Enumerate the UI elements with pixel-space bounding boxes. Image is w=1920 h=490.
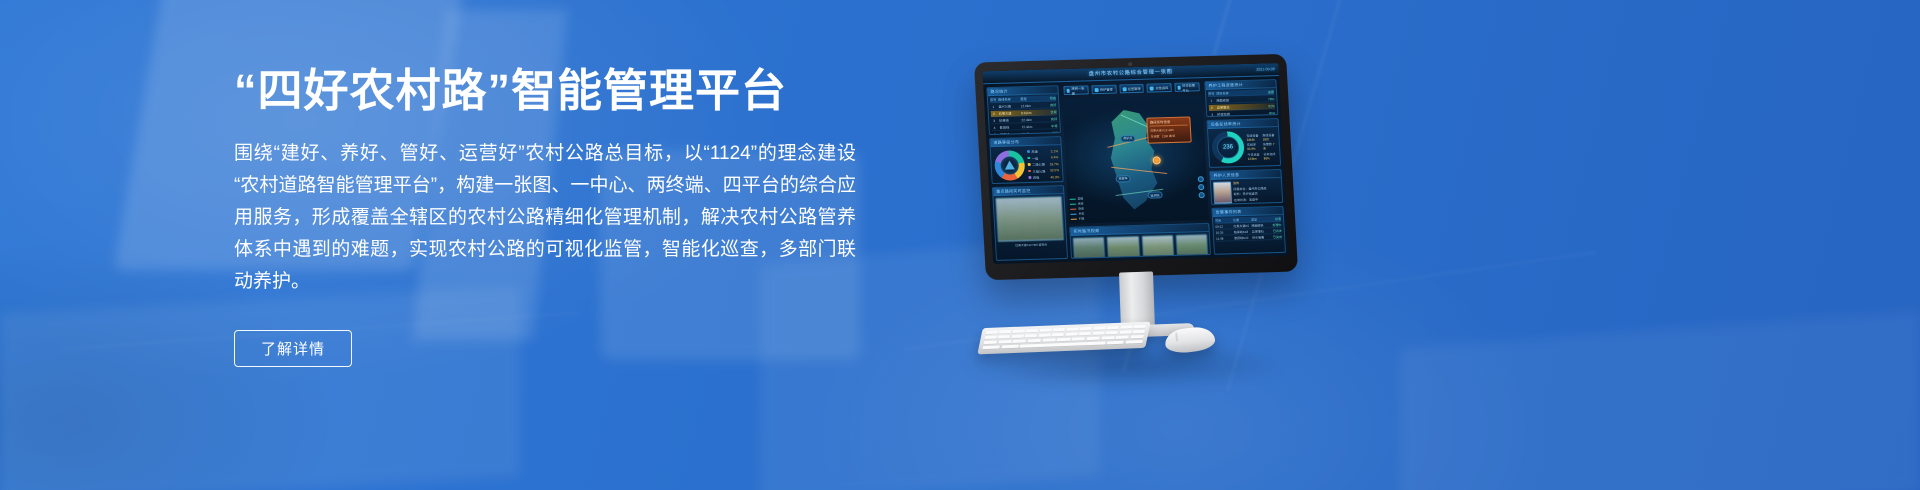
callout-line: 红果大道 K12+300 bbox=[1150, 127, 1188, 132]
key bbox=[1106, 341, 1124, 345]
key bbox=[1053, 328, 1066, 332]
legend-swatch bbox=[1070, 198, 1076, 199]
key bbox=[1013, 339, 1027, 343]
key bbox=[1120, 325, 1133, 329]
video-thumbnail[interactable] bbox=[1141, 235, 1173, 258]
key bbox=[1080, 327, 1093, 331]
key bbox=[1065, 332, 1078, 336]
legend-swatch bbox=[1028, 176, 1031, 179]
video-thumbnail[interactable] bbox=[1107, 236, 1139, 259]
column-header: 时间 bbox=[1215, 218, 1231, 222]
road-stats-table: 序号 路线名称 里程 状态 1 盘兴公路 12.6km 良好 bbox=[988, 94, 1060, 135]
dashboard-title-text: 盘州市农村公路综合管理一张图 bbox=[1089, 69, 1173, 77]
key bbox=[1025, 334, 1038, 338]
key bbox=[1001, 345, 1019, 349]
column-header: 位置 bbox=[1233, 217, 1249, 221]
dashboard-center-column: 路网一张图 养护管理 巡查管理 bbox=[1061, 81, 1211, 259]
table-row[interactable]: 5 保田线 30.8km 良好 bbox=[992, 130, 1058, 135]
webcam-icon bbox=[1128, 62, 1132, 66]
legend-item: 省道 bbox=[1070, 201, 1084, 205]
column-header: 状态 bbox=[1269, 216, 1281, 220]
person-name: 张伟 bbox=[1233, 180, 1279, 185]
donut-chart bbox=[994, 150, 1026, 181]
key bbox=[1093, 326, 1106, 330]
ring-chart: 236 bbox=[1211, 131, 1245, 164]
dashboard-body: 路况统计 序号 路线名称 里程 状态 1 盘兴公路 bbox=[983, 76, 1289, 264]
key bbox=[1038, 333, 1051, 337]
column-header: 进度 bbox=[1251, 89, 1274, 95]
key bbox=[998, 340, 1012, 344]
legend-swatch bbox=[1070, 203, 1076, 204]
dashboard-left-column: 路况统计 序号 路线名称 里程 状态 1 盘兴公路 bbox=[986, 85, 1068, 261]
key bbox=[1026, 329, 1039, 333]
panel-device-online-ring: 设备在线率统计 236 在线设备 236台 离线设备 18台 在线率 92.9%… bbox=[1206, 118, 1281, 168]
person-details: 张伟 所属单位：盘州市公路局 职务：养护巡查员 在岗状态：巡查中 bbox=[1233, 180, 1280, 203]
ring-chart-area: 236 在线设备 236台 离线设备 18台 在线率 92.9% 告警数 7条 … bbox=[1208, 127, 1280, 167]
donut-legend: 高速 2.1% 一级 6.4% bbox=[1027, 148, 1060, 180]
map-callout: 路段实时信息 红果大道 K12+300 车流量：1280 辆/日 bbox=[1147, 117, 1192, 144]
key bbox=[1115, 335, 1129, 339]
key bbox=[999, 330, 1012, 334]
panel-camera-monitor: 重点路段实时监控 红果大道K12+300 监控点 bbox=[992, 185, 1068, 261]
person-row: 所属单位：盘州市公路局 bbox=[1233, 185, 1279, 190]
learn-more-button[interactable]: 了解详情 bbox=[234, 330, 352, 367]
kpi-item: 离线设备 18台 bbox=[1262, 133, 1275, 141]
key bbox=[998, 335, 1011, 339]
column-header: 状态 bbox=[1042, 95, 1056, 100]
nav-button-map[interactable]: 路网一张图 bbox=[1063, 85, 1088, 95]
key bbox=[1107, 326, 1120, 330]
dashboard-clock: 2021-09-08 bbox=[1256, 63, 1275, 76]
person-row: 在岗状态：巡查中 bbox=[1234, 196, 1280, 201]
legend-item: 县道 bbox=[1070, 206, 1084, 210]
legend-swatch bbox=[1028, 163, 1031, 166]
key bbox=[1106, 331, 1119, 335]
hero-content: “四好农村路”智能管理平台 围绕“建好、养好、管好、运营好”农村公路总目标，以“… bbox=[234, 62, 874, 367]
key bbox=[1092, 331, 1105, 335]
key bbox=[1027, 339, 1041, 343]
key bbox=[1012, 329, 1025, 333]
zoom-in-icon[interactable] bbox=[1198, 184, 1204, 190]
legend-item: 二级公路 18.7% bbox=[1028, 161, 1059, 167]
key bbox=[1052, 333, 1065, 337]
map-icon bbox=[1067, 88, 1071, 92]
computer-illustration: 盘州市农村公路综合管理一张图 2021-09-08 路况统计 序号 路线名称 bbox=[960, 40, 1580, 400]
key bbox=[1066, 327, 1079, 331]
column-header: 路线名称 bbox=[998, 96, 1019, 102]
panel-road-stats: 路况统计 序号 路线名称 里程 状态 1 盘兴公路 bbox=[986, 85, 1061, 135]
route-icon bbox=[1122, 87, 1126, 91]
legend-item: 三级公路 32.5% bbox=[1028, 168, 1059, 174]
key bbox=[984, 336, 997, 340]
project-progress-table: 序号 项目名称 进度 1 路面修复 78% 2 bbox=[1206, 88, 1278, 117]
legend-swatch bbox=[1027, 150, 1030, 153]
panel-person-info: 养护人员信息 张伟 所属单位：盘州市公路局 职务：养护巡查员 在岗状态：巡查中 bbox=[1209, 169, 1283, 205]
kpi-item: 告警数 7条 bbox=[1263, 142, 1276, 150]
column-header: 里程 bbox=[1020, 96, 1041, 102]
page-title: “四好农村路”智能管理平台 bbox=[234, 62, 874, 120]
avatar bbox=[1213, 181, 1232, 203]
key bbox=[1130, 335, 1144, 339]
callout-line: 车流量：1280 辆/日 bbox=[1151, 133, 1189, 138]
person-card: 张伟 所属单位：盘州市公路局 职务：养护巡查员 在岗状态：巡查中 bbox=[1211, 178, 1282, 205]
video-thumbnails bbox=[1071, 232, 1210, 259]
key bbox=[1133, 325, 1146, 329]
key bbox=[1086, 337, 1100, 341]
legend-swatch bbox=[1027, 157, 1030, 160]
column-header: 项目名称 bbox=[1216, 90, 1250, 96]
kpi-grid: 在线设备 236台 离线设备 18台 在线率 92.9% 告警数 7条 今日巡查… bbox=[1246, 133, 1277, 161]
nav-button-inspection[interactable]: 巡查管理 bbox=[1119, 84, 1144, 94]
video-thumbnail[interactable] bbox=[1176, 234, 1208, 257]
key bbox=[1079, 332, 1092, 336]
kpi-item: 今日巡查 124km bbox=[1247, 152, 1260, 160]
map-chip[interactable]: 监测站 bbox=[1147, 191, 1162, 198]
layers-icon[interactable] bbox=[1198, 176, 1204, 182]
camera-caption: 红果大道K12+300 监控点 bbox=[996, 242, 1066, 249]
panel-title: 重点路段实时监控 bbox=[993, 186, 1063, 196]
map-chip[interactable]: 巡查车 bbox=[1115, 175, 1130, 182]
legend-item: 一级 6.4% bbox=[1027, 155, 1058, 161]
legend-swatch bbox=[1071, 218, 1077, 219]
legend-item: 四级 40.3% bbox=[1028, 174, 1059, 180]
kpi-item: 在线设备 236台 bbox=[1246, 133, 1259, 141]
triangle-icon bbox=[1004, 160, 1015, 169]
column-header: 序号 bbox=[990, 97, 996, 102]
dashboard-right-column: 养护工程进度统计 序号 项目名称 进度 1 路面修复 bbox=[1204, 79, 1286, 255]
kpi-item: 任务完成 89% bbox=[1263, 152, 1276, 160]
hero-banner: “四好农村路”智能管理平台 围绕“建好、养好、管好、运营好”农村公路总目标，以“… bbox=[0, 0, 1920, 490]
gis-map[interactable]: 养护点 巡查车 监测站 路段实时信息 红果大道 K12+300 车流量：1280… bbox=[1062, 95, 1209, 224]
table-row[interactable]: 3 桥梁加固 45% bbox=[1209, 110, 1275, 117]
table-row[interactable]: 11:48 普田线K22 排水堵塞 已完成 bbox=[1216, 234, 1282, 242]
legend-swatch bbox=[1028, 170, 1031, 173]
map-tool-buttons[interactable] bbox=[1198, 176, 1205, 198]
alert-table: 时间 位置 类型 状态 09:12 红果大道K5 路面破损 处理中 bbox=[1213, 215, 1284, 243]
map-marker[interactable] bbox=[1152, 156, 1160, 164]
dashboard-screen: 盘州市农村公路综合管理一张图 2021-09-08 路况统计 序号 路线名称 bbox=[982, 63, 1289, 264]
column-header: 序号 bbox=[1208, 91, 1214, 96]
ring-value: 236 bbox=[1211, 131, 1245, 164]
donut-chart-area: 高速 2.1% 一级 6.4% bbox=[991, 145, 1063, 184]
key bbox=[983, 341, 997, 345]
legend-item: 村道 bbox=[1071, 216, 1085, 220]
panel-road-grade-donut: 道路等级分布 高速 2.1% bbox=[989, 136, 1064, 184]
quick-nav-row: 路网一张图 养护管理 巡查管理 bbox=[1061, 81, 1202, 96]
alert-icon bbox=[1150, 86, 1154, 90]
key bbox=[1071, 337, 1085, 341]
kpi-item: 在线率 92.9% bbox=[1247, 143, 1260, 151]
hero-description: 围绕“建好、养好、管好、运营好”农村公路总目标，以“1124”的理念建设“农村道… bbox=[234, 138, 856, 298]
monitor: 盘州市农村公路综合管理一张图 2021-09-08 路况统计 序号 路线名称 bbox=[974, 54, 1298, 280]
column-header: 类型 bbox=[1251, 217, 1267, 221]
key bbox=[1039, 328, 1052, 332]
key bbox=[1057, 338, 1071, 342]
legend-item: 乡道 bbox=[1070, 211, 1084, 215]
callout-title: 路段实时信息 bbox=[1150, 119, 1188, 127]
panel-project-progress: 养护工程进度统计 序号 项目名称 进度 1 路面修复 bbox=[1204, 79, 1278, 117]
legend-item: 国道 bbox=[1070, 196, 1084, 200]
key bbox=[985, 331, 998, 335]
key bbox=[1042, 338, 1056, 342]
map-chip[interactable]: 养护点 bbox=[1120, 135, 1135, 142]
legend-item: 高速 2.1% bbox=[1027, 148, 1058, 154]
panel-video-strip: 实时路况视频 bbox=[1069, 223, 1211, 259]
key bbox=[982, 345, 1000, 349]
video-thumbnail[interactable] bbox=[1073, 237, 1105, 259]
person-row: 职务：养护巡查员 bbox=[1234, 191, 1280, 196]
locate-icon[interactable] bbox=[1198, 192, 1204, 198]
map-legend: 国道 省道 县道 乡道 村道 bbox=[1070, 196, 1085, 220]
key bbox=[1125, 340, 1143, 344]
legend-swatch bbox=[1070, 213, 1076, 214]
legend-swatch bbox=[1070, 208, 1076, 209]
key bbox=[1101, 336, 1115, 340]
keyboard-rows bbox=[982, 325, 1146, 350]
nav-button-emergency[interactable]: 应急指挥 bbox=[1147, 83, 1172, 93]
grid-icon bbox=[1178, 85, 1181, 89]
nav-button-platform[interactable]: 综合监管平台 bbox=[1175, 82, 1200, 92]
key bbox=[1011, 335, 1024, 339]
panel-alert-list: 告警事件列表 时间 位置 类型 状态 09:12 红 bbox=[1211, 206, 1286, 255]
key bbox=[1119, 330, 1132, 334]
nav-button-maintenance[interactable]: 养护管理 bbox=[1091, 85, 1116, 95]
camera-preview[interactable] bbox=[996, 196, 1064, 242]
key bbox=[1132, 330, 1145, 334]
wrench-icon bbox=[1094, 88, 1098, 92]
